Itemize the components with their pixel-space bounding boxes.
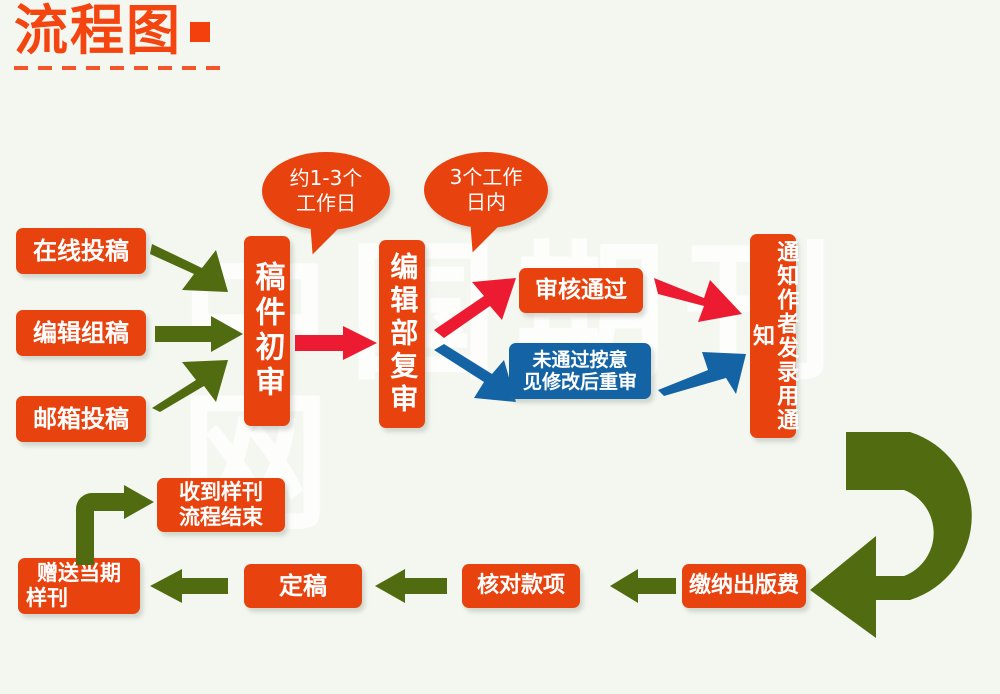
arrow-second-to-review-passed	[432, 278, 518, 338]
node-editorial-second-review[interactable]: 编辑部复审	[379, 240, 425, 428]
node-first-review[interactable]: 稿件初审	[244, 236, 290, 426]
bubble-first-line1: 约1-3个	[290, 166, 363, 190]
dashed-divider	[14, 66, 230, 70]
arrow-first-to-second-review	[295, 326, 377, 360]
review-failed-line1: 未通过按意	[532, 349, 627, 371]
bubble-first-review-time: 约1-3个 工作日	[262, 152, 390, 230]
arrow-pay-to-verify	[610, 569, 676, 603]
arrow-submit-email-to-first-review	[150, 352, 245, 412]
node-editor-solicit[interactable]: 编辑组稿	[16, 310, 146, 356]
arrow-review-passed-to-notify	[654, 272, 744, 328]
arrow-review-failed-to-notify	[658, 340, 748, 396]
arrow-submit-online-to-first-review	[150, 240, 245, 300]
flowchart-canvas: 中国期刊网 流程图 在线投稿 编辑组稿 邮箱投稿 稿件初审 约1-3个 工作日	[0, 0, 1000, 694]
node-received-sample[interactable]: 收到样刊 流程结束	[157, 478, 285, 532]
arrow-finalize-to-gift	[150, 569, 228, 603]
bubble-first-line2: 工作日	[296, 191, 356, 215]
arrow-uturn-notify-to-pay	[806, 428, 986, 638]
node-notify-author[interactable]: 通知作者发录用通知	[750, 234, 796, 438]
arrow-editor-solicit-to-first-review	[155, 316, 243, 352]
node-gift-current-issue[interactable]: 赠送当期 样刊	[18, 558, 140, 614]
received-sample-line2: 流程结束	[179, 505, 263, 530]
node-submit-email[interactable]: 邮箱投稿	[16, 396, 146, 442]
arrow-gift-to-received-sample	[68, 485, 154, 565]
arrow-verify-to-finalize	[375, 569, 447, 603]
page-title: 流程图	[14, 4, 182, 58]
review-failed-line2: 见修改后重审	[523, 371, 637, 393]
bubble-second-review-time: 3个工作 日内	[424, 152, 548, 228]
node-pay-publication-fee[interactable]: 缴纳出版费	[682, 564, 806, 608]
bubble-second-line2: 日内	[466, 190, 506, 214]
gift-line2: 样刊	[18, 586, 68, 611]
square-bullet-icon	[190, 22, 210, 42]
bubble-second-line1: 3个工作	[450, 165, 523, 189]
arrow-second-to-review-failed	[432, 344, 518, 406]
node-verify-payment[interactable]: 核对款项	[462, 564, 580, 608]
received-sample-line1: 收到样刊	[179, 480, 263, 505]
node-submit-online[interactable]: 在线投稿	[16, 228, 146, 274]
node-review-failed[interactable]: 未通过按意 见修改后重审	[509, 343, 651, 399]
node-finalize[interactable]: 定稿	[244, 564, 362, 608]
node-review-passed[interactable]: 审核通过	[519, 268, 643, 313]
bubble-tail-icon	[302, 219, 340, 259]
